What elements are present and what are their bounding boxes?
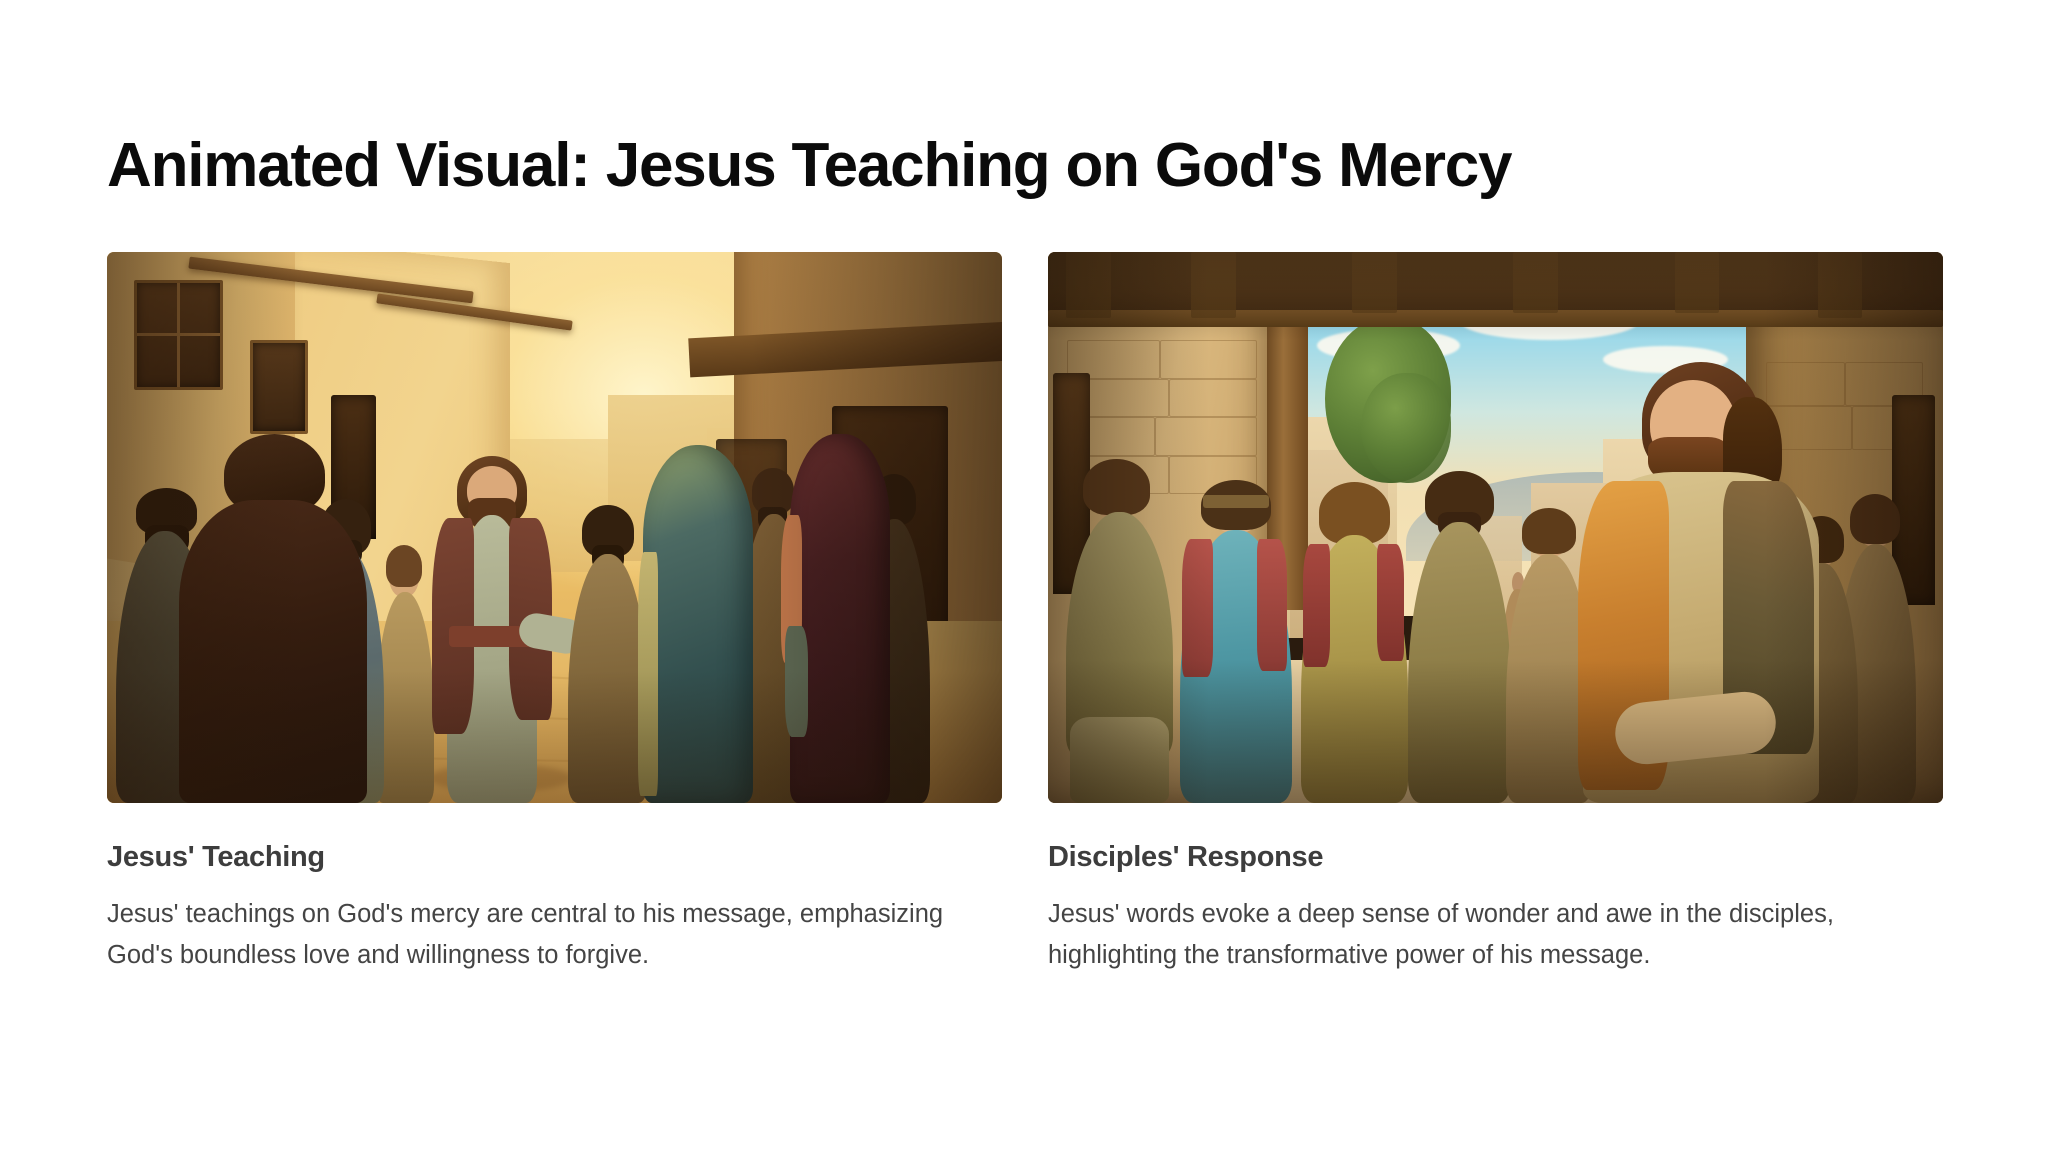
card-title-jesus-teaching: Jesus' Teaching [107, 841, 1002, 874]
page-root: Animated Visual: Jesus Teaching on God's… [0, 0, 2048, 1152]
card-title-disciples-response: Disciples' Response [1048, 841, 1943, 874]
visual-card-disciples-response: Disciples' Response Jesus' words evoke a… [1048, 252, 1943, 977]
illustration-jesus-teaching[interactable] [107, 252, 1002, 803]
visual-card-jesus-teaching: Jesus' Teaching Jesus' teachings on God'… [107, 252, 1002, 977]
card-body-disciples-response: Jesus' words evoke a deep sense of wonde… [1048, 894, 1928, 977]
illustration-disciples-response[interactable] [1048, 252, 1943, 803]
card-body-jesus-teaching: Jesus' teachings on God's mercy are cent… [107, 894, 952, 977]
visual-card-grid: Jesus' Teaching Jesus' teachings on God'… [107, 252, 1942, 977]
page-title: Animated Visual: Jesus Teaching on God's… [107, 132, 1511, 200]
